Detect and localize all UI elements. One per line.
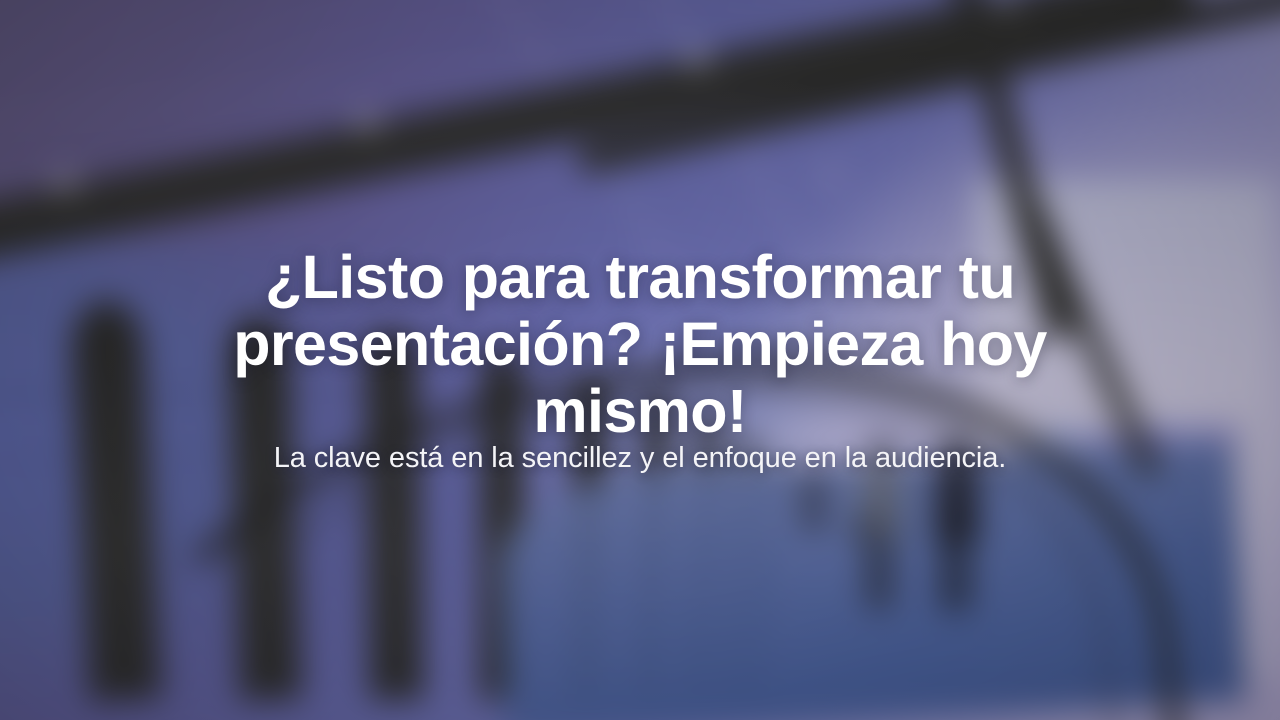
slide-subtitle: La clave está en la sencillez y el enfoq… xyxy=(190,439,1090,477)
slide-text-block: ¿Listo para transformar tu presentación?… xyxy=(0,0,1280,720)
presentation-slide: ¿Listo para transformar tu presentación?… xyxy=(0,0,1280,720)
slide-title: ¿Listo para transformar tu presentación?… xyxy=(225,244,1055,445)
